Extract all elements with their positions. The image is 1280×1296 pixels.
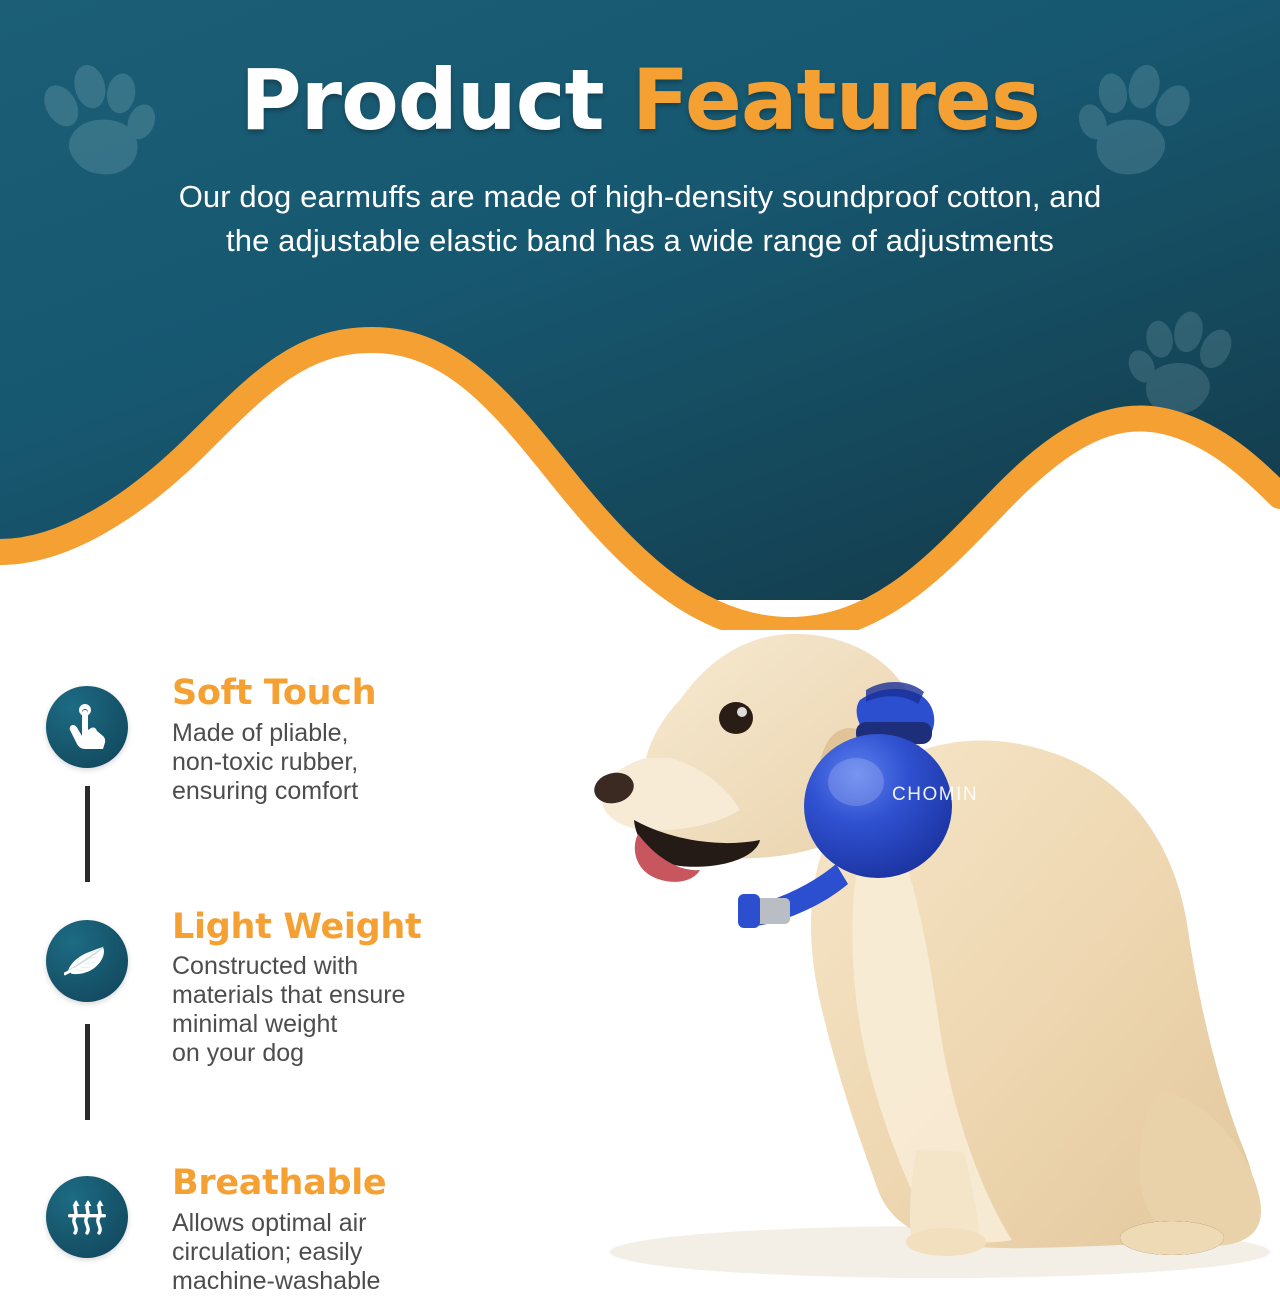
feature-description: Made of pliable, non-toxic rubber, ensur… (172, 719, 376, 806)
feature-text-block: Soft Touch Made of pliable, non-toxic ru… (128, 668, 376, 806)
dog-eye (719, 702, 753, 734)
title-word-product: Product (240, 51, 604, 149)
feature-item-soft-touch: Soft Touch Made of pliable, non-toxic ru… (46, 668, 566, 806)
earmuff-highlight (828, 758, 884, 806)
subtitle-line-2: the adjustable elastic band has a wide r… (65, 219, 1215, 263)
earmuff-brand-label: CHOMIN (892, 784, 978, 805)
feature-connector-line (85, 786, 90, 882)
airflow-icon (46, 1176, 128, 1258)
header-subtitle: Our dog earmuffs are made of high-densit… (65, 175, 1215, 263)
feature-description: Constructed with materials that ensure m… (172, 952, 421, 1068)
feature-title: Light Weight (172, 908, 421, 947)
earmuff-cup (804, 734, 952, 878)
feature-text-block: Light Weight Constructed with materials … (128, 902, 421, 1069)
feather-icon (46, 920, 128, 1002)
feature-item-breathable: Breathable Allows optimal air circulatio… (46, 1158, 566, 1296)
earmuff-buckle-clip (738, 894, 760, 928)
feature-title: Soft Touch (172, 674, 376, 713)
feature-description: Allows optimal air circulation; easily m… (172, 1209, 386, 1296)
hand-tap-icon (46, 686, 128, 768)
feature-item-light-weight: Light Weight Constructed with materials … (46, 902, 566, 1069)
feature-text-block: Breathable Allows optimal air circulatio… (128, 1158, 386, 1296)
feature-list: Soft Touch Made of pliable, non-toxic ru… (46, 668, 566, 1296)
dog-front-paw (906, 1228, 986, 1256)
feature-connector-line (85, 1024, 90, 1120)
wave-divider (0, 300, 1280, 630)
page-title: Product Features (0, 58, 1280, 144)
title-word-features: Features (632, 51, 1040, 149)
subtitle-line-1: Our dog earmuffs are made of high-densit… (65, 175, 1215, 219)
feature-title: Breathable (172, 1164, 386, 1203)
